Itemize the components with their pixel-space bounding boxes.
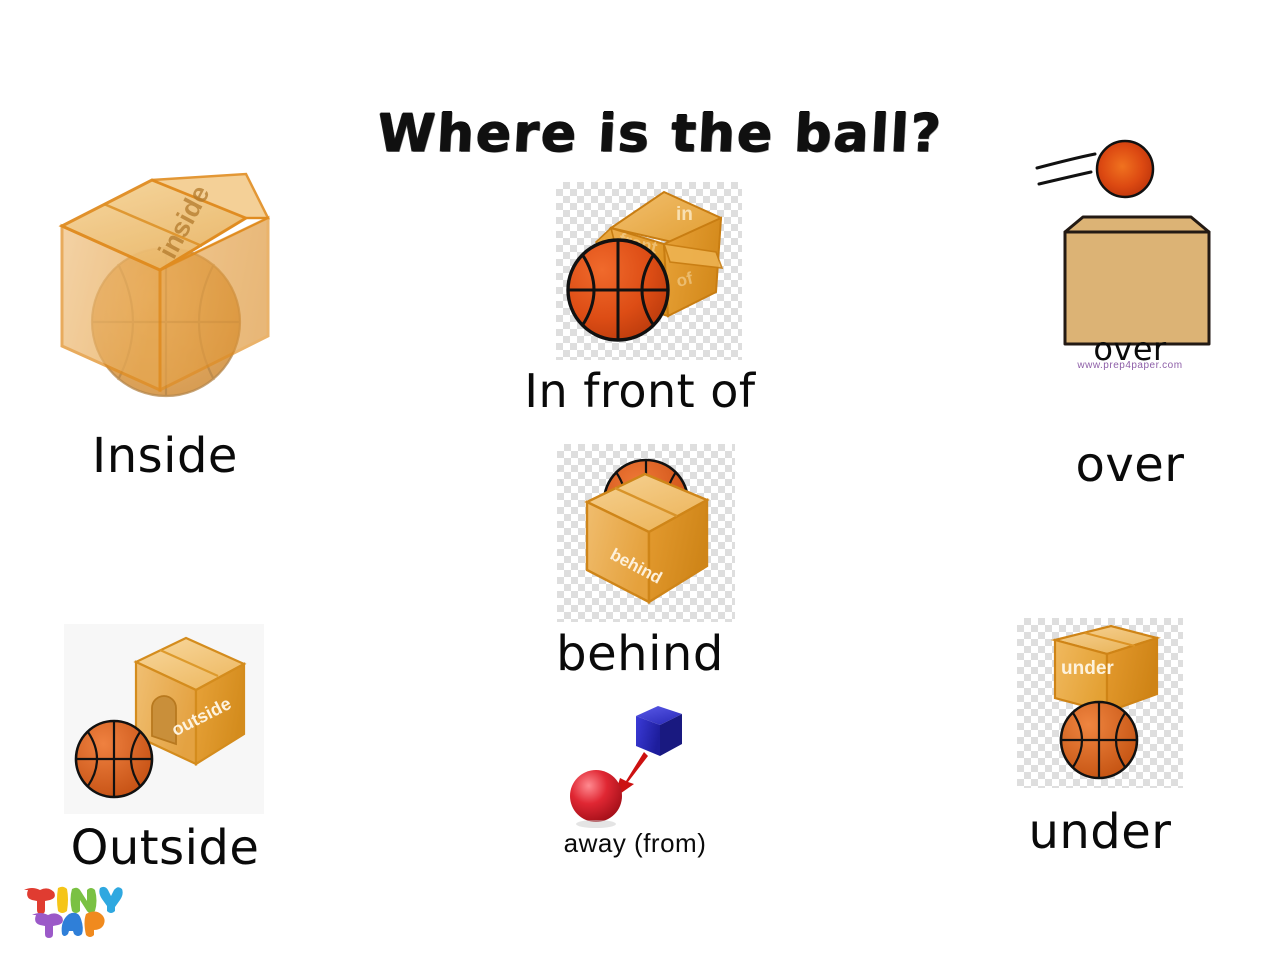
box-with-ball-inside-illustration: inside [40, 160, 290, 430]
item-away-from[interactable]: away (from) [540, 694, 730, 874]
page-title: Where is the ball? [368, 104, 951, 164]
item-label-under: under [1000, 804, 1200, 860]
logo-letter-P [85, 912, 105, 938]
item-in-front-of[interactable]: in front of In front of [520, 182, 760, 422]
box-face-text: under [1061, 658, 1114, 679]
tinytap-logo-line1 [24, 887, 123, 914]
open-box-with-ball-in-front-illustration: in front of [556, 182, 742, 360]
watermark-prep4paper: www.prep4paper.com [1005, 360, 1255, 371]
tinytap-logo-line2 [32, 912, 105, 939]
cube-arrow-ball-moving-away-illustration [540, 694, 730, 824]
logo-letter-T1 [24, 888, 55, 914]
item-over[interactable]: over www.prep4paper.com over [1005, 132, 1255, 492]
box-above-ball-illustration: under [1017, 618, 1183, 788]
item-inside[interactable]: inside Inside [40, 160, 290, 500]
item-behind[interactable]: behind behind [520, 444, 760, 694]
logo-letter-T2 [32, 913, 63, 938]
logo-letter-I [57, 887, 68, 913]
worksheet-canvas: Where is the ball? [0, 0, 1280, 960]
item-label-over: over [1005, 437, 1255, 493]
item-under[interactable]: under under [1000, 618, 1200, 868]
item-label-inside: Inside [40, 428, 290, 484]
item-label-behind: behind [520, 626, 760, 682]
item-label-outside: Outside [40, 820, 290, 876]
logo-letter-Y [99, 887, 122, 913]
item-outside[interactable]: outside Outside [40, 624, 290, 884]
tinytap-logo[interactable] [22, 886, 120, 936]
box-face-text: in [676, 204, 693, 225]
logo-letter-A [62, 913, 83, 936]
box-with-ball-behind-illustration: behind [557, 444, 735, 622]
logo-letter-N [71, 888, 97, 913]
box-with-doorway-and-ball-outside-illustration: outside [64, 624, 264, 814]
item-label-in-front-of: In front of [520, 364, 760, 418]
item-label-away-from: away (from) [540, 828, 730, 859]
